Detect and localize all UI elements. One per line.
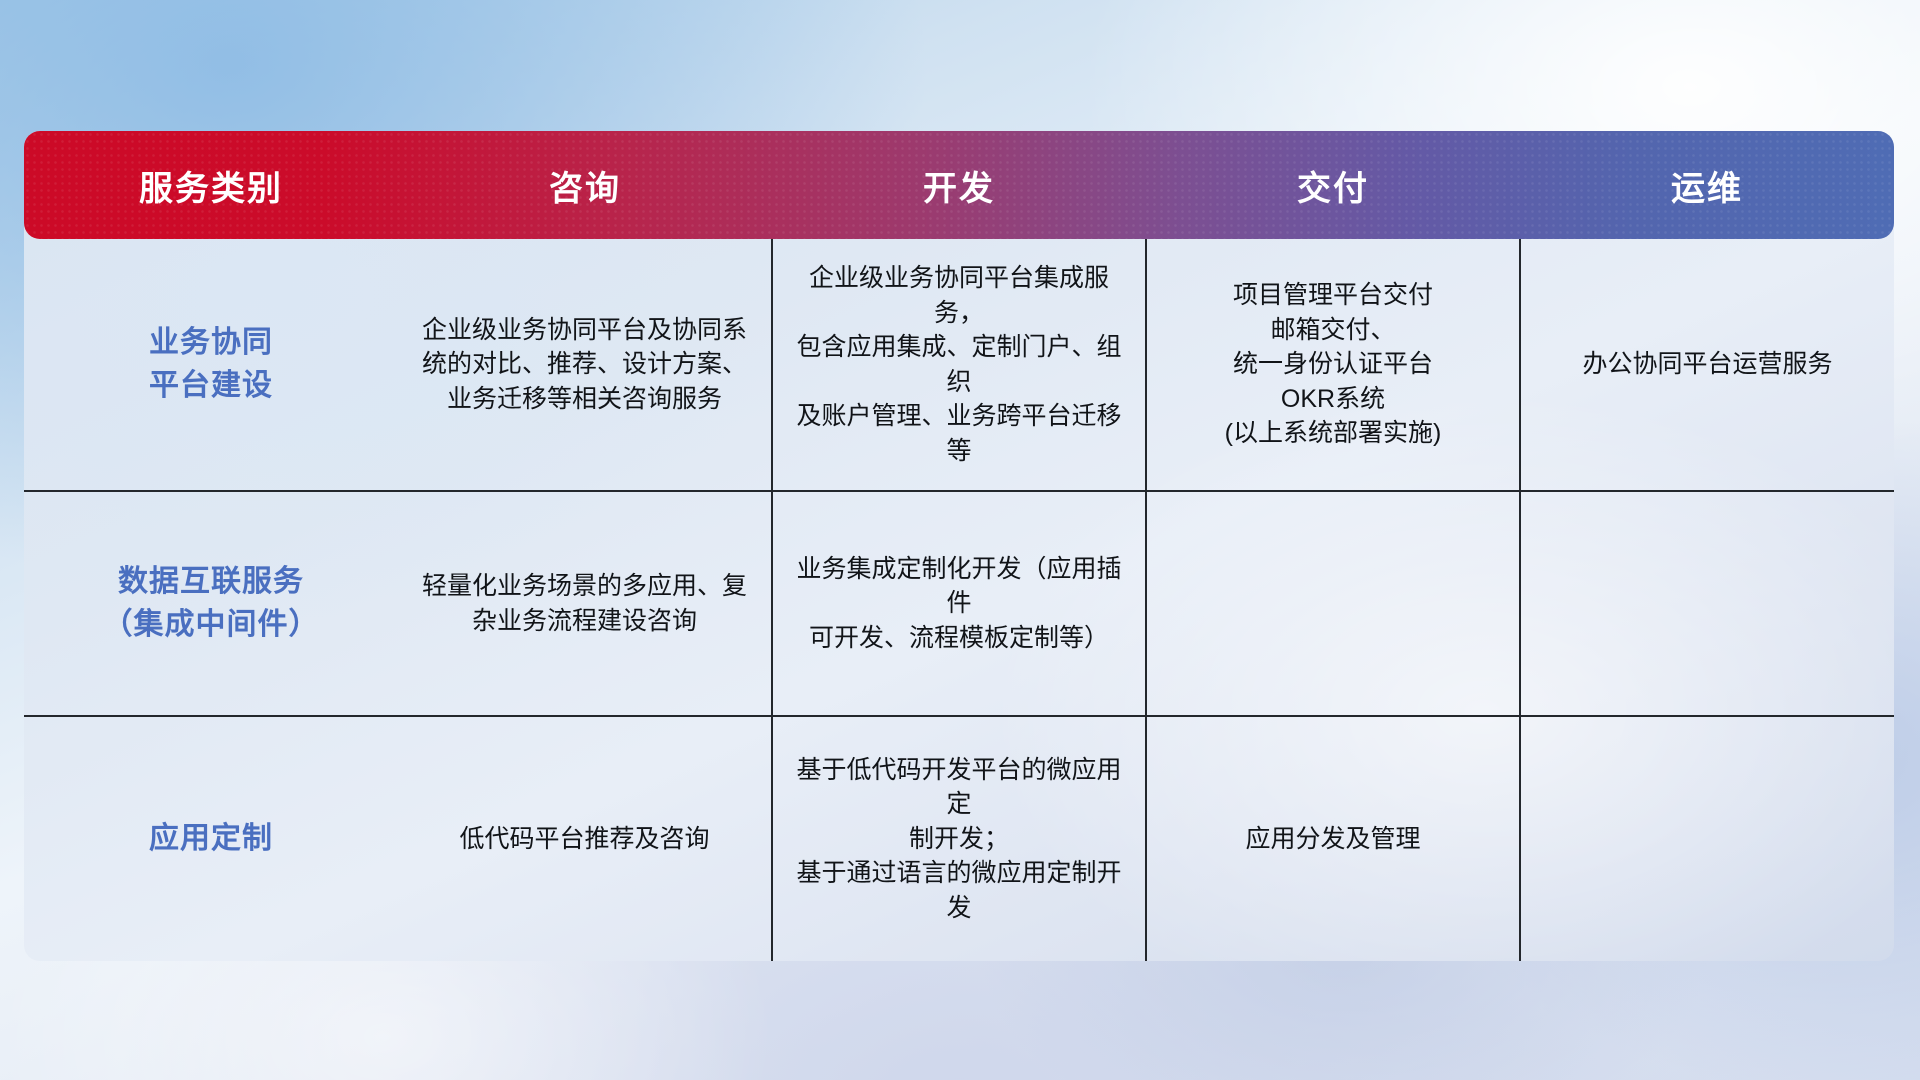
table-body: 业务协同 平台建设 企业级业务协同平台及协同系 统的对比、推荐、设计方案、 业务… — [24, 239, 1894, 961]
column-header-category[interactable]: 服务类别 — [24, 131, 398, 239]
table-row: 业务协同 平台建设 企业级业务协同平台及协同系 统的对比、推荐、设计方案、 业务… — [24, 239, 1894, 491]
cell-consulting: 低代码平台推荐及咨询 — [398, 716, 772, 961]
cell-consulting: 企业级业务协同平台及协同系 统的对比、推荐、设计方案、 业务迁移等相关咨询服务 — [398, 239, 772, 491]
table-row: 数据互联服务 （集成中间件） 轻量化业务场景的多应用、复 杂业务流程建设咨询 业… — [24, 491, 1894, 716]
cell-development: 企业级业务协同平台集成服务， 包含应用集成、定制门户、组织 及账户管理、业务跨平… — [772, 239, 1146, 491]
column-header-development[interactable]: 开发 — [772, 131, 1146, 239]
row-category-label: 应用定制 — [24, 716, 398, 961]
cell-development: 基于低代码开发平台的微应用定 制开发； 基于通过语言的微应用定制开发 — [772, 716, 1146, 961]
table-header-row: 服务类别 咨询 开发 交付 运维 — [24, 131, 1894, 239]
cell-delivery: 项目管理平台交付 邮箱交付、 统一身份认证平台 OKR系统 (以上系统部署实施) — [1146, 239, 1520, 491]
table-head: 服务类别 咨询 开发 交付 运维 — [24, 131, 1894, 239]
table-row: 应用定制 低代码平台推荐及咨询 基于低代码开发平台的微应用定 制开发； 基于通过… — [24, 716, 1894, 961]
cell-consulting: 轻量化业务场景的多应用、复 杂业务流程建设咨询 — [398, 491, 772, 716]
column-header-delivery[interactable]: 交付 — [1146, 131, 1520, 239]
row-category-label: 业务协同 平台建设 — [24, 239, 398, 491]
column-header-consulting[interactable]: 咨询 — [398, 131, 772, 239]
row-category-label: 数据互联服务 （集成中间件） — [24, 491, 398, 716]
cell-operations — [1520, 716, 1894, 961]
cell-delivery — [1146, 491, 1520, 716]
service-category-table: 服务类别 咨询 开发 交付 运维 业务协同 平台建设 企业级业务协同平台及协同系… — [24, 131, 1894, 961]
cell-development: 业务集成定制化开发（应用插件 可开发、流程模板定制等） — [772, 491, 1146, 716]
cell-operations — [1520, 491, 1894, 716]
column-header-operations[interactable]: 运维 — [1520, 131, 1894, 239]
cell-delivery: 应用分发及管理 — [1146, 716, 1520, 961]
service-matrix: 服务类别 咨询 开发 交付 运维 业务协同 平台建设 企业级业务协同平台及协同系… — [24, 131, 1894, 961]
cell-operations: 办公协同平台运营服务 — [1520, 239, 1894, 491]
